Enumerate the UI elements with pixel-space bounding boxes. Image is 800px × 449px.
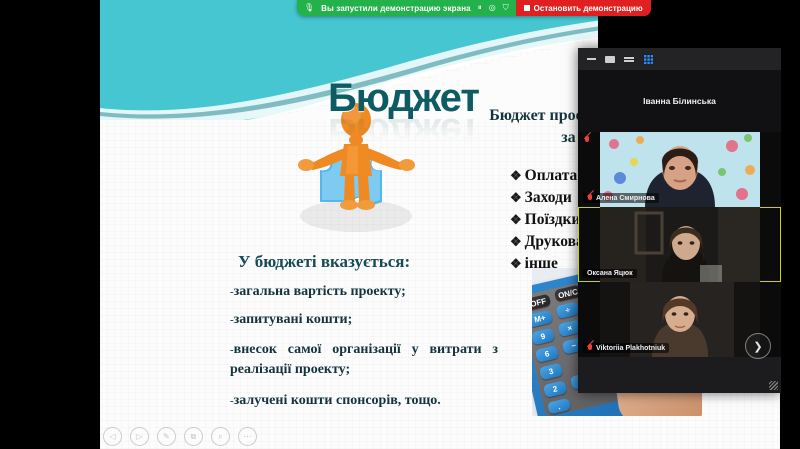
calculator-key: OFF	[532, 294, 551, 311]
stop-share-label: Остановить демонстрацию	[534, 4, 643, 13]
gallery-view-icon[interactable]	[643, 54, 653, 64]
zoom-button[interactable]: ⌕	[211, 427, 230, 446]
list-item-label: Поїздки	[525, 211, 581, 228]
annotate-pen-icon: ✎	[163, 433, 170, 441]
letterbox-left	[0, 0, 100, 449]
mic-icon[interactable]: 🎙	[304, 4, 314, 12]
play-slide-button[interactable]: ▷	[130, 427, 149, 446]
active-speaker-name: Іванна Білинська	[643, 96, 716, 106]
previous-slide-button[interactable]: ◁	[103, 427, 122, 446]
list-item: -запитувані кошти;	[230, 312, 498, 328]
participant-tile[interactable]: Алена Смирнова	[578, 132, 781, 207]
calculator-key: .	[547, 398, 571, 415]
list-item: -внесок самої організації у витрати з ре…	[230, 340, 498, 381]
minimize-icon: ⋯	[244, 433, 252, 441]
minimize-button[interactable]: ⋯	[238, 427, 257, 446]
mic-muted-icon	[587, 344, 593, 352]
share-status-label: Вы запустили демонстрацию экрана	[321, 4, 471, 13]
diamond-bullet-icon: ❖	[510, 168, 522, 183]
screen-share-view: Бюджет Бюджет Бюджет проекту складається…	[0, 0, 800, 449]
list-item-label: загальна вартість проекту;	[234, 284, 406, 299]
calculator-key: 6	[535, 345, 559, 363]
participant-name: Алена Смирнова	[596, 195, 655, 202]
minimize-icon[interactable]	[587, 58, 596, 60]
strip-view-icon[interactable]	[624, 56, 634, 63]
participant-name-badge: Viktoriia Plakhotniuk	[583, 343, 669, 353]
zoom-video-panel[interactable]: Іванна Білинська	[578, 48, 781, 393]
letterbox-right	[780, 0, 800, 449]
diamond-bullet-icon: ❖	[510, 212, 522, 227]
resize-grip[interactable]	[769, 381, 778, 390]
calculator-key: 9	[532, 328, 555, 346]
annotate-icon[interactable]: ◎	[489, 4, 496, 12]
share-status-group: 🎙 Вы запустили демонстрацию экрана ⏸ ◎ ⛉	[297, 0, 516, 16]
pause-icon[interactable]: ⏸	[478, 4, 482, 12]
list-item-label: Заходи	[525, 189, 572, 206]
list-item-label: внесок самої організації у витрати з реа…	[230, 342, 498, 377]
stop-share-button[interactable]: Остановить демонстрацию	[516, 0, 651, 16]
zoom-view-toolbar	[578, 48, 781, 70]
calculator-key: M+	[532, 310, 553, 328]
participant-name: Viktoriia Plakhotniuk	[596, 345, 665, 352]
zoom-icon: ⌕	[218, 433, 222, 441]
participant-tile[interactable]: Оксана Яцюк	[578, 207, 781, 282]
stop-icon	[524, 5, 530, 11]
participant-name-badge: Оксана Яцюк	[583, 269, 637, 278]
annotate-pen-button[interactable]: ✎	[157, 427, 176, 446]
chevron-right-icon: ❯	[753, 340, 762, 353]
play-slide-icon: ▷	[136, 433, 142, 441]
mic-muted-icon	[587, 194, 593, 202]
next-page-button[interactable]: ❯	[745, 333, 771, 359]
participant-name: Оксана Яцюк	[587, 270, 633, 277]
diamond-bullet-icon: ❖	[510, 256, 522, 271]
slide-lead-text: У бюджеті вказується:	[238, 252, 410, 272]
annotation-toolbar: ◁ ▷ ✎ ⧉ ⌕ ⋯	[103, 427, 257, 446]
mic-muted-icon	[584, 136, 590, 144]
save-snapshot-icon: ⧉	[191, 433, 197, 441]
calculator-key: 3	[539, 363, 563, 381]
active-speaker-tile[interactable]: Іванна Білинська	[578, 70, 781, 132]
calculator-key: ÷	[556, 301, 580, 319]
diamond-bullet-icon: ❖	[510, 190, 522, 205]
participant-tiles: Алена Смирнова	[578, 132, 781, 357]
diamond-bullet-icon: ❖	[510, 234, 522, 249]
list-item: -залучені кошти спонсорів, тощо.	[230, 393, 498, 409]
shield-icon[interactable]: ⛉	[503, 4, 509, 12]
screen-share-banner: 🎙 Вы запустили демонстрацию экрана ⏸ ◎ ⛉…	[297, 0, 651, 16]
participant-name-badge: Алена Смирнова	[583, 193, 659, 203]
list-item-label: запитувані кошти;	[234, 312, 353, 327]
save-snapshot-button[interactable]: ⧉	[184, 427, 203, 446]
previous-slide-icon: ◁	[109, 433, 115, 441]
slide-detail-list: -загальна вартість проекту; -запитувані …	[230, 284, 498, 421]
speaker-view-icon[interactable]	[605, 56, 615, 63]
calculator-key: 2	[543, 380, 567, 398]
list-item-label: залучені кошти спонсорів, тощо.	[234, 393, 441, 408]
list-item: -загальна вартість проекту;	[230, 284, 498, 300]
